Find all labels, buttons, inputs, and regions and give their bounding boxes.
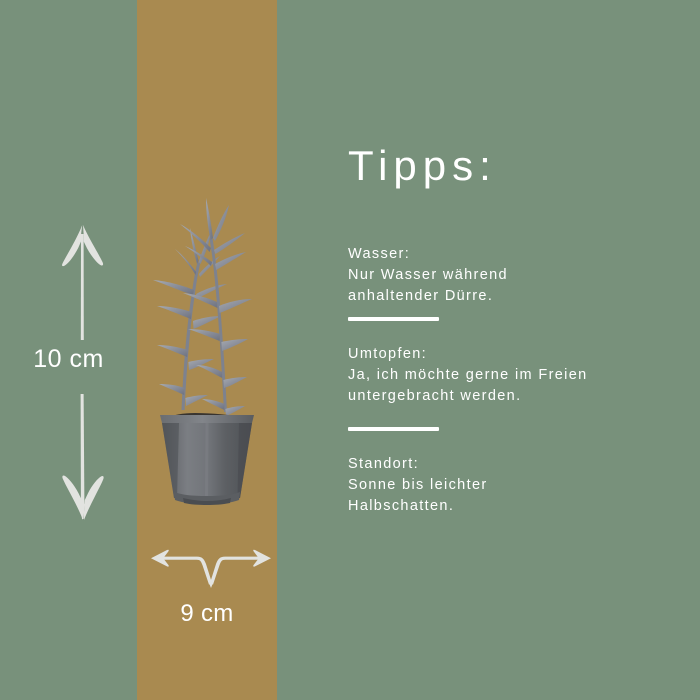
double-horizontal-arrow-icon (150, 543, 272, 593)
page-title: Tipps: (348, 142, 497, 190)
tip-line-location-1: Sonne bis leichter (348, 475, 698, 496)
tip-line-water-2: anhaltender Dürre. (348, 286, 698, 307)
tip-label-water: Wasser: (348, 244, 698, 265)
plant-info-card: 10 cm (0, 0, 700, 700)
tip-section-location: Standort: Sonne bis leichter Halbschatte… (348, 427, 698, 517)
plant-foliage-left (153, 228, 227, 410)
tip-line-water-1: Nur Wasser während (348, 265, 698, 286)
tip-line-location-2: Halbschatten. (348, 496, 698, 517)
tip-section-repot: Umtopfen: Ja, ich möchte gerne im Freien… (348, 317, 698, 407)
tips-panel: Tipps: Wasser: Nur Wasser während anhalt… (277, 0, 700, 700)
tip-label-location: Standort: (348, 454, 698, 475)
tip-label-repot: Umtopfen: (348, 344, 698, 365)
tip-line-repot-2: untergebracht werden. (348, 386, 698, 407)
potted-plant-photo (137, 0, 277, 700)
plant-illustration (139, 182, 275, 507)
width-label-text: 9 cm (137, 600, 277, 628)
nursery-pot (160, 415, 254, 505)
height-label: 10 cm (0, 340, 137, 379)
height-label-text: 10 cm (26, 340, 111, 379)
tip-line-repot-1: Ja, ich möchte gerne im Freien (348, 365, 698, 386)
tip-divider-repot (348, 317, 439, 321)
height-measurement: 10 cm (0, 0, 137, 700)
tip-divider-location (348, 427, 439, 431)
tip-section-water: Wasser: Nur Wasser während anhaltender D… (348, 244, 698, 307)
